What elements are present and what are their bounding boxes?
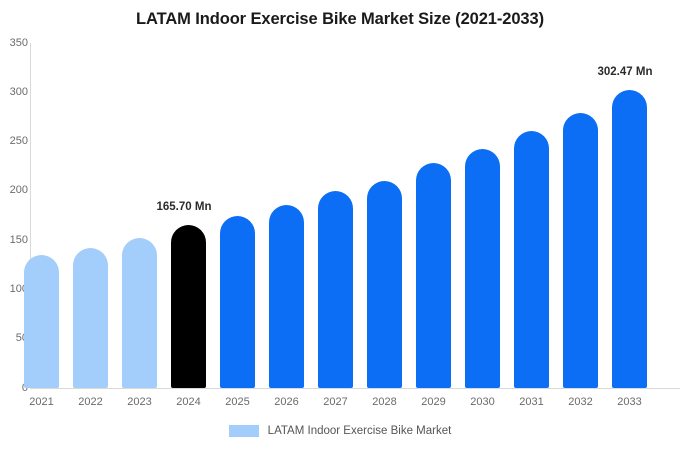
- x-axis-tick-label-2030: 2030: [458, 396, 507, 409]
- x-axis-tick-label-2029: 2029: [409, 396, 458, 409]
- bar-slot-2026[interactable]: [262, 43, 311, 388]
- bar-2030[interactable]: [465, 149, 500, 388]
- x-axis-tick-label-2023: 2023: [115, 396, 164, 409]
- bar-2032[interactable]: [563, 113, 598, 388]
- bar-2031[interactable]: [514, 131, 549, 388]
- bar-slot-2022[interactable]: [66, 43, 115, 388]
- x-axis-tick-label-2022: 2022: [66, 396, 115, 409]
- chart-title: LATAM Indoor Exercise Bike Market Size (…: [0, 10, 680, 29]
- bar-slot-2023[interactable]: [115, 43, 164, 388]
- legend-swatch-icon: [229, 425, 259, 437]
- x-axis-tick-label-2027: 2027: [311, 396, 360, 409]
- x-axis-tick-label-2024: 2024: [164, 396, 213, 409]
- x-axis-tick-label-2032: 2032: [556, 396, 605, 409]
- bar-2023[interactable]: [122, 238, 157, 388]
- chart-container: LATAM Indoor Exercise Bike Market Size (…: [0, 0, 680, 450]
- bar-2021[interactable]: [24, 255, 59, 388]
- bar-slot-2027[interactable]: [311, 43, 360, 388]
- bar-slot-2031[interactable]: [507, 43, 556, 388]
- bar-2028[interactable]: [367, 181, 402, 388]
- bar-2026[interactable]: [269, 205, 304, 388]
- x-axis-tick-label-2026: 2026: [262, 396, 311, 409]
- bar-slot-2025[interactable]: [213, 43, 262, 388]
- bar-2033[interactable]: [612, 90, 647, 388]
- bar-slot-2029[interactable]: [409, 43, 458, 388]
- bar-2027[interactable]: [318, 191, 353, 388]
- bar-2029[interactable]: [416, 163, 451, 388]
- bar-2022[interactable]: [73, 248, 108, 388]
- x-axis-tick-label-2028: 2028: [360, 396, 409, 409]
- x-axis-tick-label-2031: 2031: [507, 396, 556, 409]
- bar-slot-2021[interactable]: [17, 43, 66, 388]
- chart-legend: LATAM Indoor Exercise Bike Market: [0, 425, 680, 437]
- bar-slot-2032[interactable]: [556, 43, 605, 388]
- bar-slot-2028[interactable]: [360, 43, 409, 388]
- bars-layer: [30, 43, 680, 388]
- data-label-2024: 165.70 Mn: [157, 201, 212, 213]
- legend-label: LATAM Indoor Exercise Bike Market: [268, 425, 452, 437]
- bar-slot-2024[interactable]: [164, 43, 213, 388]
- data-label-2033: 302.47 Mn: [598, 66, 653, 78]
- bar-2025[interactable]: [220, 216, 255, 389]
- x-axis-line: [30, 388, 680, 389]
- x-axis-tick-label-2021: 2021: [17, 396, 66, 409]
- x-axis-tick-label-2025: 2025: [213, 396, 262, 409]
- bar-2024[interactable]: [171, 225, 206, 388]
- x-axis-tick-label-2033: 2033: [605, 396, 654, 409]
- bar-slot-2030[interactable]: [458, 43, 507, 388]
- bar-slot-2033[interactable]: [605, 43, 654, 388]
